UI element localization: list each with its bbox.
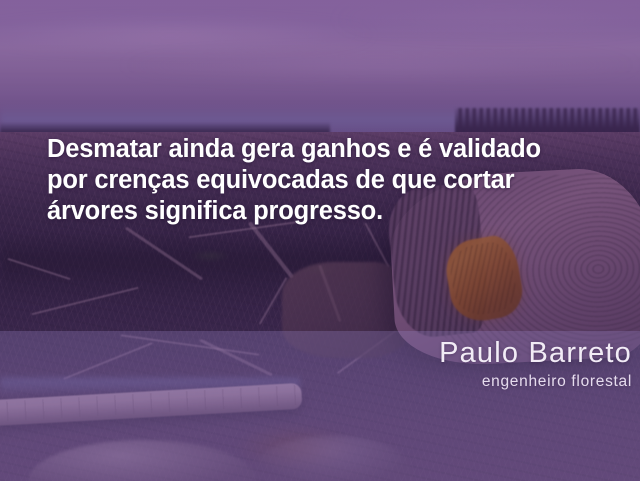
author-name: Paulo Barreto [232, 336, 632, 370]
author-role: engenheiro florestal [232, 371, 632, 393]
quote-line-2: por crenças equivocadas de que cortar [47, 165, 603, 196]
quote-card: Desmatar ainda gera ganhos e é validado … [0, 0, 640, 481]
quote-line-1: Desmatar ainda gera ganhos e é validado [47, 134, 603, 165]
attribution-block: Paulo Barreto engenheiro florestal [232, 336, 632, 393]
quote-line-3: árvores significa progresso. [47, 196, 603, 227]
cloud-wisp [120, 52, 640, 78]
quote-text: Desmatar ainda gera ganhos e é validado … [47, 134, 603, 227]
